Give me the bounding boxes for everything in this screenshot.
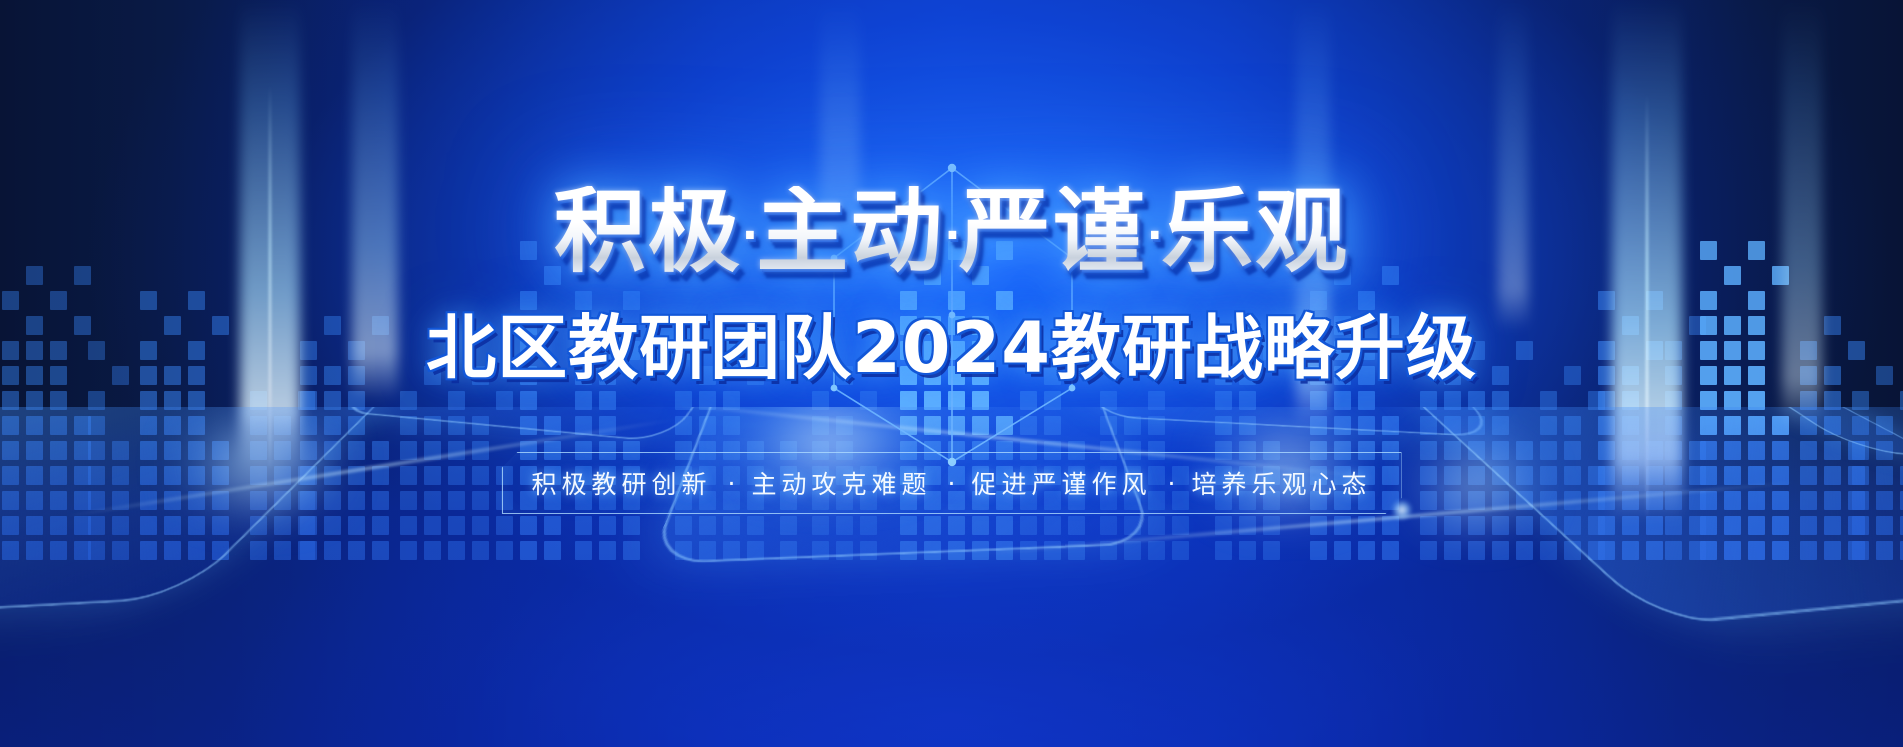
title-word: 积极	[554, 178, 742, 285]
tagline-separator: ·	[1151, 469, 1191, 498]
title-separator: ·	[1147, 215, 1161, 257]
title-word: 主动	[756, 178, 944, 285]
tagline-item: 积极教研创新	[532, 465, 712, 501]
page-subtitle: 北区教研团队2024教研战略升级	[0, 313, 1903, 383]
tagline-item: 培养乐观心态	[1191, 465, 1371, 501]
tagline-text: 积极教研创新·主动攻克难题·促进严谨作风·培养乐观心态	[502, 452, 1402, 514]
title-word: 严谨	[959, 178, 1147, 285]
tagline-item: 主动攻克难题	[752, 465, 932, 501]
title-separator: ·	[944, 215, 958, 257]
tagline-item: 促进严谨作风	[971, 465, 1151, 501]
tagline-separator: ·	[712, 469, 752, 498]
sparkle-dot	[1392, 500, 1412, 520]
title-separator: ·	[742, 215, 756, 257]
page-title: 积极·主动·严谨·乐观	[0, 186, 1903, 278]
tagline-bar: 积极教研创新·主动攻克难题·促进严谨作风·培养乐观心态	[502, 452, 1402, 514]
banner-content: 积极·主动·严谨·乐观 北区教研团队2024教研战略升级 积极教研创新·主动攻克…	[0, 0, 1903, 747]
banner-root: 积极·主动·严谨·乐观 北区教研团队2024教研战略升级 积极教研创新·主动攻克…	[0, 0, 1903, 747]
title-word: 乐观	[1161, 178, 1349, 285]
tagline-separator: ·	[932, 469, 972, 498]
